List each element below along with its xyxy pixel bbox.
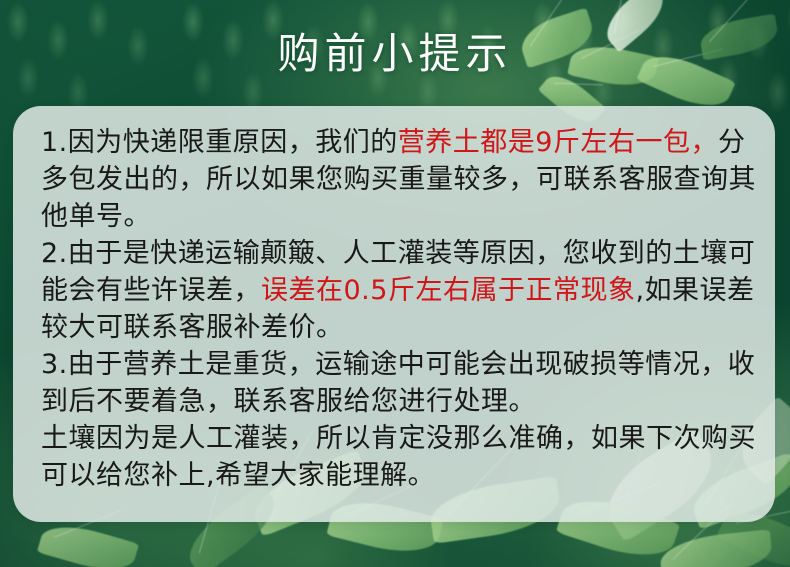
tips-line: 可以给您补上,希望大家能理解。: [41, 457, 757, 494]
tips-text: 分: [718, 127, 746, 158]
tips-card: 1.因为快递限重原因，我们的营养土都是9斤左右一包，分多包发出的，所以如果您购买…: [13, 106, 775, 522]
tips-line: 土壤因为是人工灌装，所以肯定没那么准确，如果下次购买: [41, 420, 757, 457]
tips-text: 可以给您补上,希望大家能理解。: [41, 460, 435, 491]
tips-line: 2.由于是快递运输颠簸、人工灌装等原因，您收到的土壤可: [41, 235, 757, 272]
promo-banner: 购前小提示 1.因为快递限重原因，我们的营养土都是9斤左右一包，分多包发出的，所…: [0, 0, 790, 567]
tips-text: 较大可联系客服补差价。: [41, 312, 344, 343]
tips-line: 3.由于营养土是重货，运输途中可能会出现破损等情况，收: [41, 346, 757, 383]
tips-line: 到后不要着急，联系客服给您进行处理。: [41, 383, 757, 420]
tips-line: 多包发出的，所以如果您购买重量较多，可联系客服查询其: [41, 161, 757, 198]
tips-text: 他单号。: [41, 201, 151, 232]
tips-text: 1.因为快递限重原因，我们的: [41, 127, 398, 158]
tips-text-block: 1.因为快递限重原因，我们的营养土都是9斤左右一包，分多包发出的，所以如果您购买…: [41, 124, 757, 494]
page-title: 购前小提示: [0, 26, 790, 82]
tips-line: 较大可联系客服补差价。: [41, 309, 757, 346]
tips-line: 他单号。: [41, 198, 757, 235]
tips-text: ,如果误差: [635, 275, 754, 306]
tips-highlight-text: 营养土都是9斤左右一包，: [398, 127, 718, 158]
tips-text: 3.由于营养土是重货，运输途中可能会出现破损等情况，收: [41, 349, 755, 380]
tips-text: 土壤因为是人工灌装，所以肯定没那么准确，如果下次购买: [41, 423, 756, 454]
tips-text: 到后不要着急，联系客服给您进行处理。: [41, 386, 536, 417]
tips-highlight-text: 误差在0.5斤左右属于正常现象: [261, 275, 635, 306]
tips-text: 2.由于是快递运输颠簸、人工灌装等原因，您收到的土壤可: [41, 238, 755, 269]
tips-line: 能会有些许误差，误差在0.5斤左右属于正常现象,如果误差: [41, 272, 757, 309]
tips-line: 1.因为快递限重原因，我们的营养土都是9斤左右一包，分: [41, 124, 757, 161]
tips-text: 多包发出的，所以如果您购买重量较多，可联系客服查询其: [41, 164, 756, 195]
tips-text: 能会有些许误差，: [41, 275, 261, 306]
